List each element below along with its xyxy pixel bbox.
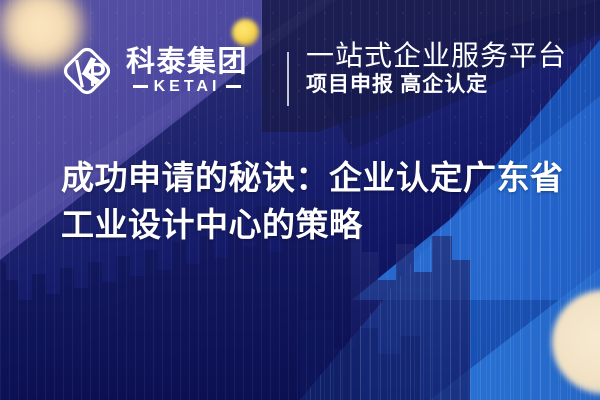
logo-english-name: KETAI bbox=[154, 79, 221, 95]
logo-dash-right-icon bbox=[226, 85, 241, 88]
logo-dash-left-icon bbox=[133, 85, 148, 88]
tagline-main-text: 一站式企业服务平台 bbox=[306, 41, 567, 70]
headline-line-1: 成功申请的秘诀：企业认定广东省 bbox=[61, 155, 561, 202]
vertical-divider bbox=[287, 52, 289, 106]
headline-block: 成功申请的秘诀：企业认定广东省 工业设计中心的策略 bbox=[61, 155, 561, 249]
logo-english-row: KETAI bbox=[126, 79, 248, 95]
tagline-sub-text: 项目申报 高企认定 bbox=[306, 73, 567, 96]
ketai-kp-diamond-monogram-icon bbox=[58, 42, 116, 100]
logo-chinese-name: 科泰集团 bbox=[126, 48, 248, 77]
logo-wordmark: 科泰集团 KETAI bbox=[126, 48, 248, 95]
promo-banner: 科泰集团 KETAI 一站式企业服务平台 项目申报 高企认定 成功申请的秘诀：企… bbox=[0, 0, 600, 400]
headline-line-2: 工业设计中心的策略 bbox=[61, 202, 561, 249]
tagline-block: 一站式企业服务平台 项目申报 高企认定 bbox=[306, 41, 567, 96]
brand-logo[interactable]: 科泰集团 KETAI bbox=[58, 42, 248, 100]
